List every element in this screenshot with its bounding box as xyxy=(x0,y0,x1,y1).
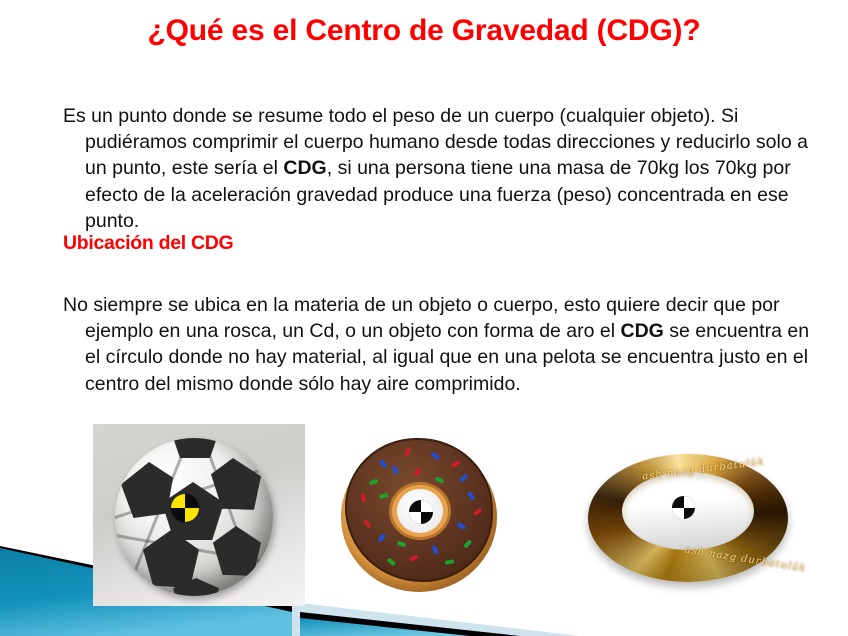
page-title: ¿Qué es el Centro de Gravedad (CDG)? xyxy=(0,14,848,47)
paragraph-location-bold-cdg: CDG xyxy=(621,320,664,342)
paragraph-definition: Es un punto donde se resume todo el peso… xyxy=(63,103,825,234)
image-soccer-ball xyxy=(93,424,305,606)
slide-canvas: ¿Qué es el Centro de Gravedad (CDG)? Es … xyxy=(0,0,848,636)
soccer-ball-sphere xyxy=(115,438,273,596)
image-golden-ring: ash nazg durbatulûk ash nazg durbatulûk xyxy=(588,446,794,596)
ball-pentagon xyxy=(121,462,173,518)
paragraph-location: No siempre se ubica en la materia de un … xyxy=(63,292,825,397)
subheading-ubicacion: Ubicación del CDG xyxy=(63,232,233,255)
paragraph-definition-bold-cdg: CDG xyxy=(283,157,326,179)
cdg-marker-icon xyxy=(171,494,199,522)
ball-pentagon xyxy=(213,526,261,578)
cdg-marker-icon xyxy=(409,500,433,524)
ball-pentagon xyxy=(173,438,217,458)
cdg-marker-icon xyxy=(672,496,695,519)
image-donut xyxy=(339,436,499,596)
